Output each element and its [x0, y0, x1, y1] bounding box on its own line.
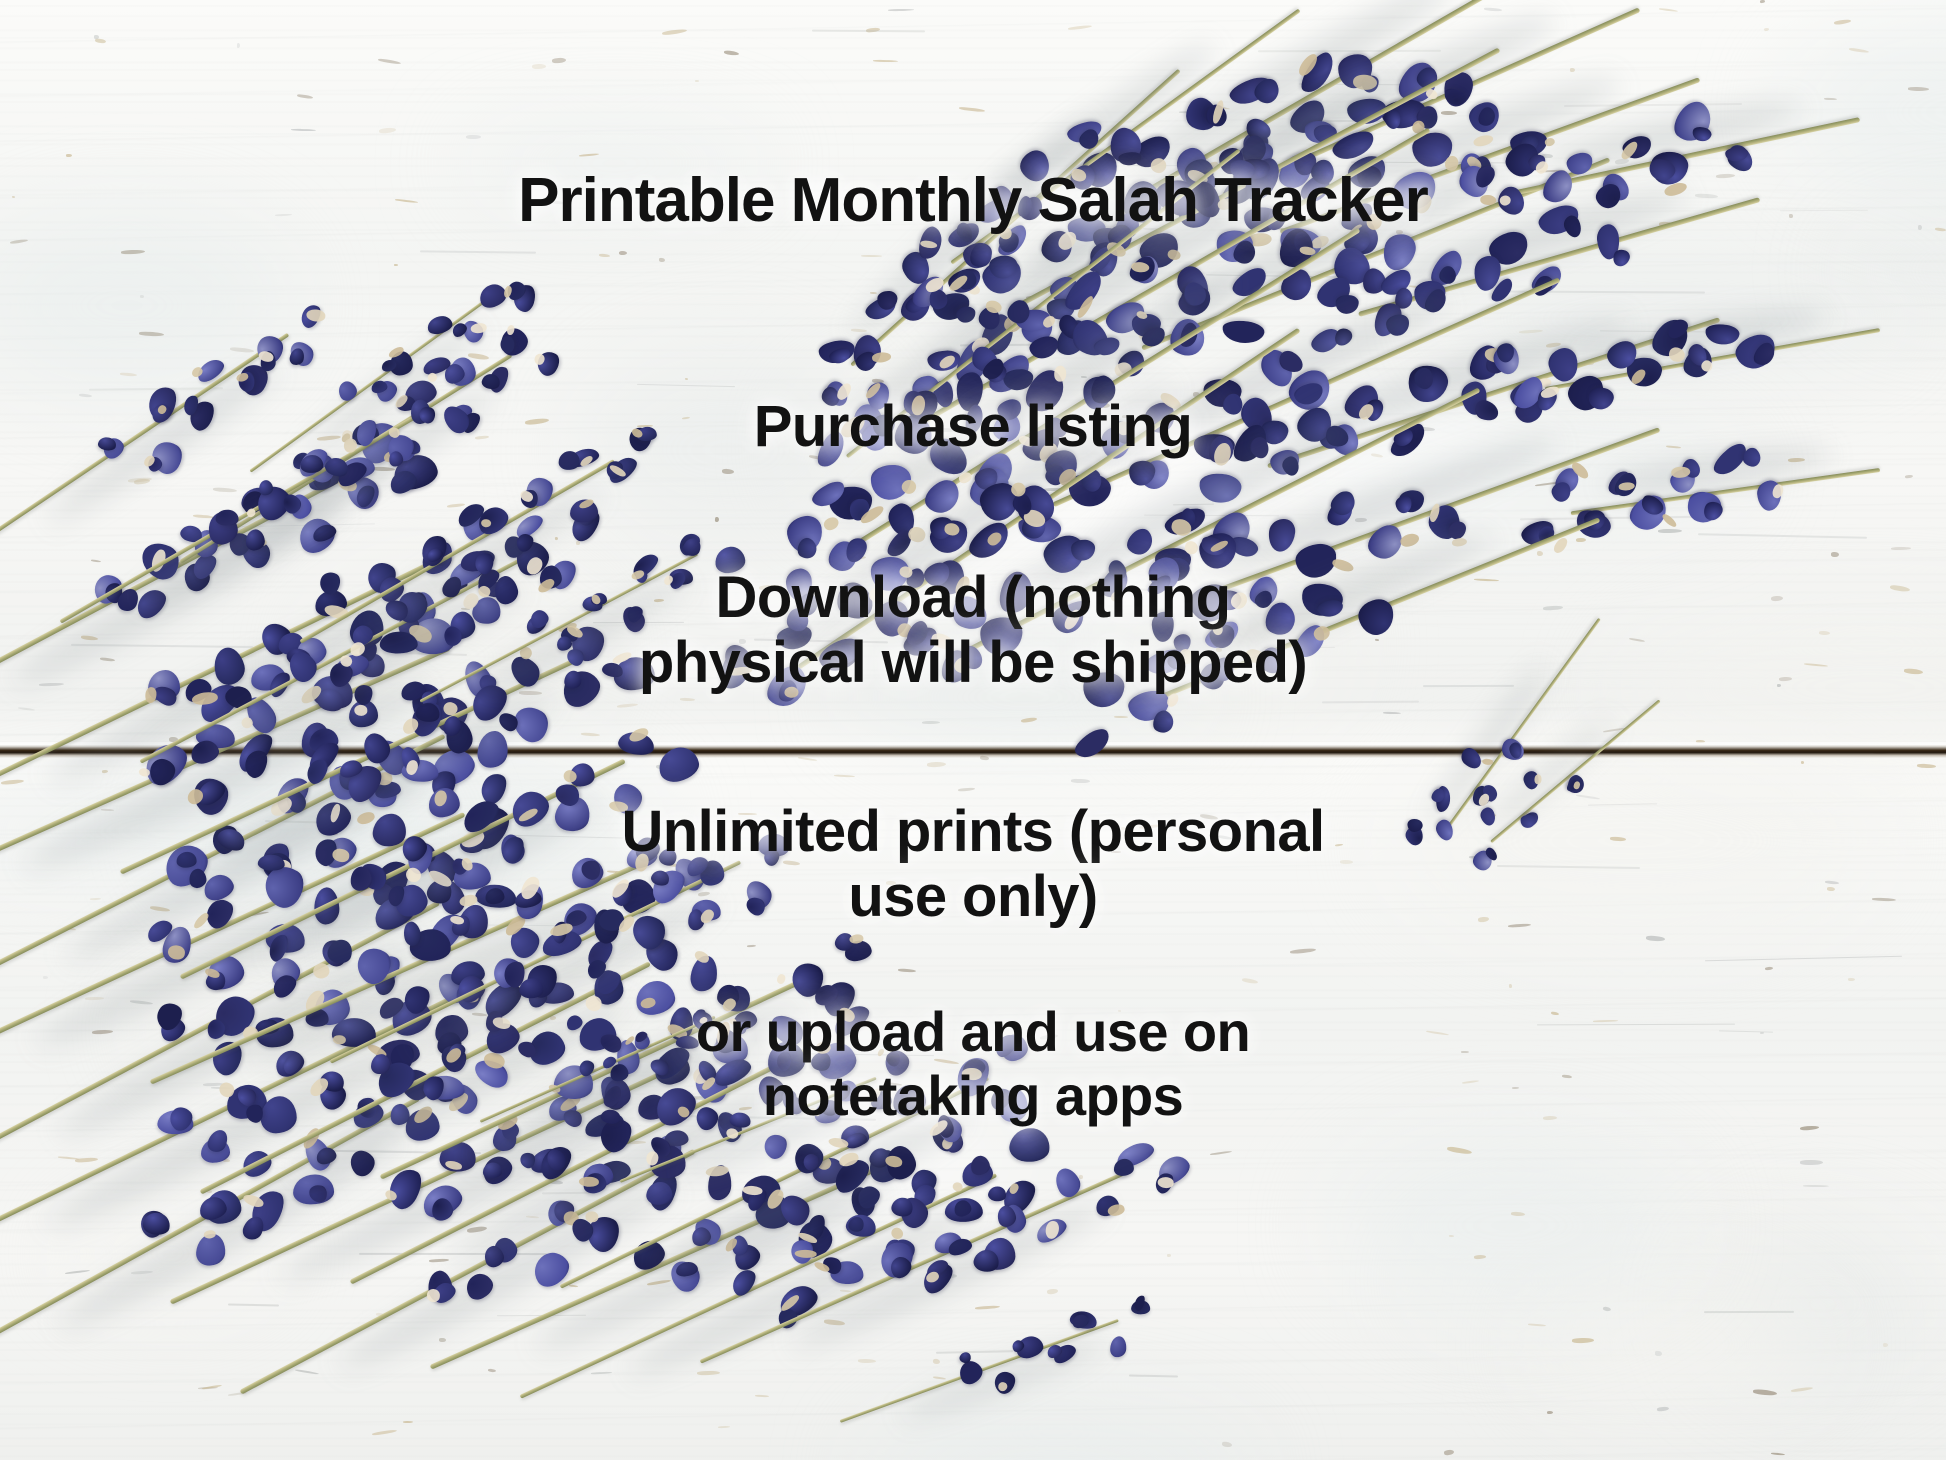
- page-title: Printable Monthly Salah Tracker: [0, 168, 1946, 235]
- text-overlay: Printable Monthly Salah Tracker Purchase…: [0, 0, 1946, 1460]
- step-unlimited-prints: Unlimited prints (personal use only): [0, 800, 1946, 930]
- step-download: Download (nothing physical will be shipp…: [0, 566, 1946, 696]
- step-upload-notetaking: or upload and use on notetaking apps: [0, 1000, 1946, 1129]
- listing-image-canvas: Printable Monthly Salah Tracker Purchase…: [0, 0, 1946, 1460]
- step-purchase-listing: Purchase listing: [0, 396, 1946, 459]
